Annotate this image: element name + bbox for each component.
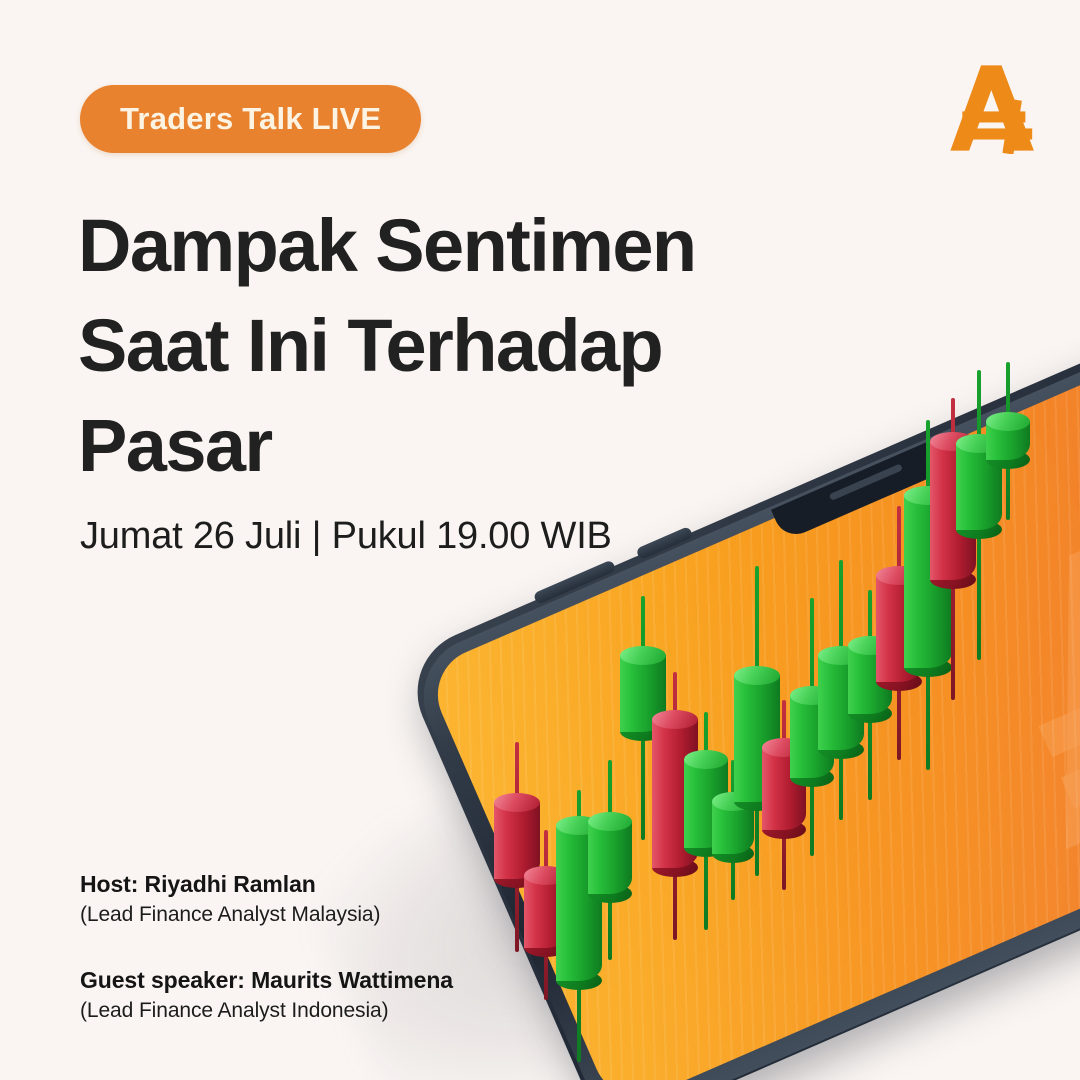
brand-logo-a-icon <box>950 62 1036 154</box>
headline-line-1: Dampak Sentimen <box>78 196 838 296</box>
guest-role: (Lead Finance Analyst Indonesia) <box>80 996 453 1026</box>
host-name: Host: Riyadhi Ramlan <box>80 868 453 900</box>
live-badge: Traders Talk LIVE <box>80 85 421 153</box>
live-badge-label: Traders Talk LIVE <box>120 101 381 137</box>
page-title: Dampak Sentimen Saat Ini Terhadap Pasar <box>78 196 838 496</box>
speakers-block: Host: Riyadhi Ramlan (Lead Finance Analy… <box>80 868 453 1060</box>
host-block: Host: Riyadhi Ramlan (Lead Finance Analy… <box>80 868 453 930</box>
headline-line-3: Pasar <box>78 396 838 496</box>
guest-name: Guest speaker: Maurits Wattimena <box>80 964 453 996</box>
poster-content: Traders Talk LIVE Dampak Sentimen Saat I… <box>0 0 1080 1080</box>
event-datetime: Jumat 26 Juli | Pukul 19.00 WIB <box>80 515 612 558</box>
poster-canvas: Traders Talk LIVE Dampak Sentimen Saat I… <box>0 0 1080 1080</box>
host-role: (Lead Finance Analyst Malaysia) <box>80 900 453 930</box>
guest-block: Guest speaker: Maurits Wattimena (Lead F… <box>80 964 453 1026</box>
headline-line-2: Saat Ini Terhadap <box>78 296 838 396</box>
